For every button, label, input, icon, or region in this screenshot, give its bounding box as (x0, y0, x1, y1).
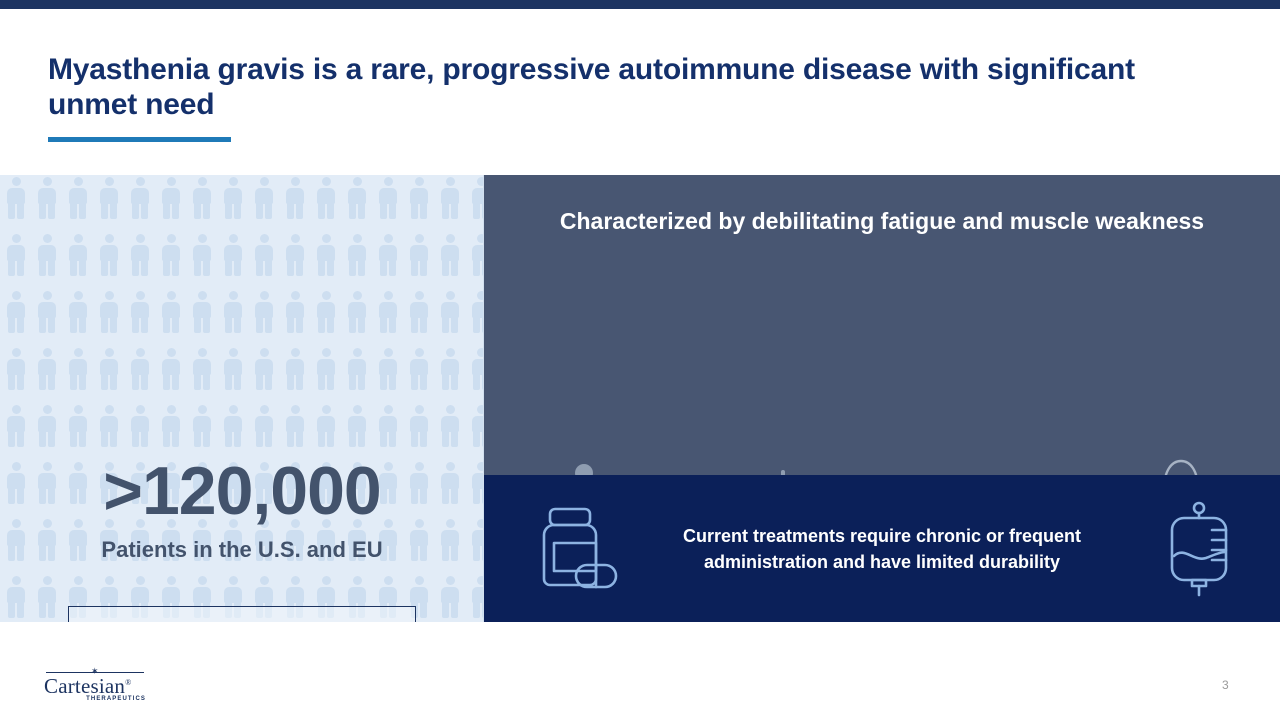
person-icon (222, 291, 244, 333)
person-icon (160, 405, 182, 447)
person-icon (470, 291, 484, 333)
person-icon (470, 576, 484, 618)
person-icon (5, 576, 27, 618)
person-icon (346, 291, 368, 333)
person-icon (408, 234, 430, 276)
person-icon (439, 177, 461, 219)
person-icon (439, 348, 461, 390)
person-icon (36, 177, 58, 219)
person-icon (160, 291, 182, 333)
symptoms-panel: Characterized by debilitating fatigue an… (484, 175, 1280, 475)
statistics-panel: >120,000 Patients in the U.S. and EU Sig… (0, 175, 484, 622)
person-icon (129, 177, 151, 219)
person-icon (346, 234, 368, 276)
person-icon (36, 291, 58, 333)
person-icon (377, 405, 399, 447)
person-icon (408, 177, 430, 219)
person-icon (284, 234, 306, 276)
person-icon (98, 234, 120, 276)
person-icon (253, 177, 275, 219)
page-title: Myasthenia gravis is a rare, progressive… (48, 52, 1168, 123)
person-icon (160, 177, 182, 219)
person-icon (191, 405, 213, 447)
patient-count-value: >120,000 (0, 457, 484, 525)
person-icon (470, 234, 484, 276)
person-icon (408, 348, 430, 390)
person-icon (470, 177, 484, 219)
person-icon (439, 405, 461, 447)
person-icon (315, 234, 337, 276)
person-icon (253, 348, 275, 390)
person-icon (253, 234, 275, 276)
person-icon (439, 576, 461, 618)
person-icon (98, 291, 120, 333)
person-icon (470, 405, 484, 447)
person-icon (5, 348, 27, 390)
person-icon (315, 405, 337, 447)
person-icon (129, 405, 151, 447)
person-icon (315, 348, 337, 390)
patient-count-caption: Patients in the U.S. and EU (0, 537, 484, 563)
logo-wordmark-text: Cartesian (44, 674, 125, 698)
person-icon (284, 405, 306, 447)
person-icon (36, 348, 58, 390)
treatment-panel: Current treatments require chronic or fr… (484, 475, 1280, 622)
person-icon (315, 291, 337, 333)
person-icon (5, 234, 27, 276)
person-icon (222, 177, 244, 219)
person-icon (129, 234, 151, 276)
person-icon (67, 348, 89, 390)
person-icon (346, 405, 368, 447)
person-icon (191, 234, 213, 276)
person-icon (67, 234, 89, 276)
person-icon (439, 291, 461, 333)
top-accent-stripe (0, 0, 1280, 9)
person-icon (346, 348, 368, 390)
title-block: Myasthenia gravis is a rare, progressive… (48, 52, 1168, 142)
person-icon (5, 405, 27, 447)
person-icon (284, 348, 306, 390)
person-icon (346, 177, 368, 219)
person-icon (470, 348, 484, 390)
title-accent-bar (48, 137, 231, 142)
person-icon (191, 177, 213, 219)
person-icon (408, 291, 430, 333)
person-icon (377, 291, 399, 333)
iv-bag-icon (1164, 500, 1234, 603)
person-icon (160, 348, 182, 390)
person-icon (36, 405, 58, 447)
person-icon (98, 405, 120, 447)
person-icon (98, 348, 120, 390)
logo-wordmark: Cartesian® (44, 675, 148, 697)
person-icon (36, 576, 58, 618)
person-icon (67, 177, 89, 219)
page-number: 3 (1222, 678, 1229, 692)
person-icon (36, 234, 58, 276)
person-icon (222, 234, 244, 276)
logo-registered-mark: ® (125, 678, 131, 687)
person-icon (377, 177, 399, 219)
person-icon (253, 291, 275, 333)
person-icon (67, 405, 89, 447)
person-icon (284, 291, 306, 333)
person-icon (67, 291, 89, 333)
unmet-need-callout-box: Significant unmet need remains (68, 606, 416, 622)
person-icon (253, 405, 275, 447)
company-logo: ✶ Cartesian® THERAPEUTICS (44, 668, 148, 702)
person-icon (315, 177, 337, 219)
person-icon (408, 405, 430, 447)
person-icon (191, 348, 213, 390)
pill-bottle-icon (532, 503, 622, 600)
person-icon (160, 234, 182, 276)
symptoms-heading: Characterized by debilitating fatigue an… (484, 206, 1280, 238)
person-icon (191, 291, 213, 333)
person-icon (98, 177, 120, 219)
person-icon (5, 177, 27, 219)
person-icon (129, 348, 151, 390)
person-icon (5, 291, 27, 333)
person-icon (377, 234, 399, 276)
person-icon (284, 177, 306, 219)
treatment-description: Current treatments require chronic or fr… (632, 523, 1132, 575)
person-icon (222, 348, 244, 390)
person-icon (377, 348, 399, 390)
person-icon (439, 234, 461, 276)
person-icon (129, 291, 151, 333)
person-icon (222, 405, 244, 447)
